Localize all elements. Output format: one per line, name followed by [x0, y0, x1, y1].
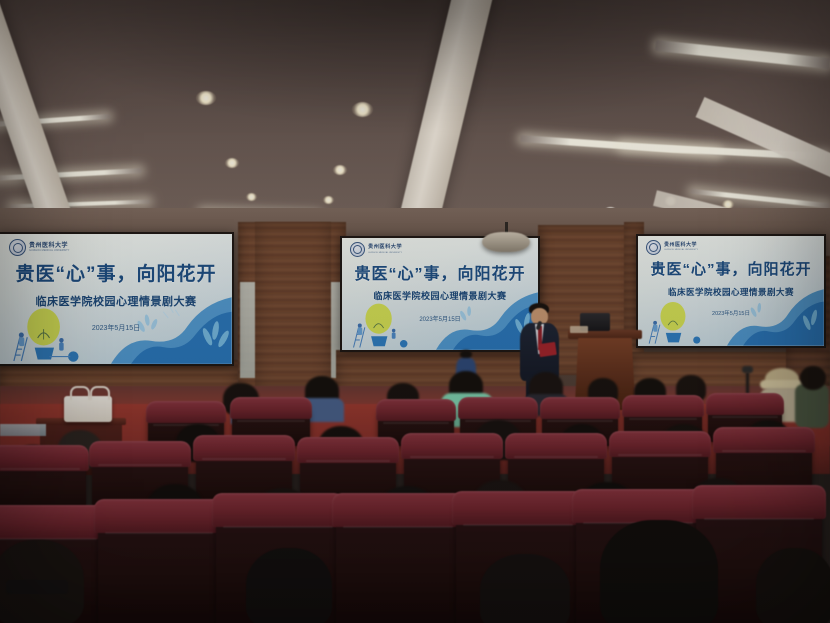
- auditorium-photo: 贵州医科大学 GUIZHOU MEDICAL UNIVERSITY 贵医“心”事…: [0, 0, 830, 623]
- basket-handle: [70, 386, 90, 400]
- center-projection-screen: 贵州医科大学 GUIZHOU MEDICAL UNIVERSITY 贵医“心”事…: [340, 236, 540, 352]
- university-emblem-icon: [9, 239, 26, 256]
- slide-title: 贵医“心”事，向阳花开: [342, 260, 538, 284]
- slide-right: 贵州医科大学 GUIZHOU MEDICAL UNIVERSITY 贵医“心”事…: [638, 236, 824, 346]
- university-name-en: GUIZHOU MEDICAL UNIVERSITY: [368, 252, 402, 254]
- university-logo: 贵州医科大学 GUIZHOU MEDICAL UNIVERSITY: [646, 240, 698, 255]
- auditorium-seat: [336, 500, 460, 623]
- university-name-en: GUIZHOU MEDICAL UNIVERSITY: [664, 249, 698, 251]
- slide-subtitle: 临床医学院校园心理情景剧大赛: [0, 293, 232, 309]
- university-logo: 贵州医科大学 GUIZHOU MEDICAL UNIVERSITY: [350, 242, 402, 257]
- auditorium-seat: [98, 506, 220, 623]
- university-logo: 贵州医科大学 GUIZHOU MEDICAL UNIVERSITY: [9, 239, 69, 256]
- university-name-en: GUIZHOU MEDICAL UNIVERSITY: [29, 250, 69, 253]
- foreground-head: [480, 554, 570, 623]
- foreground-head: [756, 548, 830, 623]
- auditorium-seat: [0, 452, 86, 510]
- slide-subtitle: 临床医学院校园心理情景剧大赛: [342, 289, 538, 302]
- university-emblem-icon: [646, 240, 661, 255]
- university-name: 贵州医科大学: [664, 243, 698, 248]
- slide-title: 贵医“心”事，向阳花开: [638, 258, 824, 279]
- wall-wood-panel: [255, 222, 331, 394]
- slide-date: 2023年5月15日: [342, 314, 538, 323]
- left-projection-screen: 贵州医科大学 GUIZHOU MEDICAL UNIVERSITY 贵医“心”事…: [0, 232, 234, 366]
- microphone-stand: [746, 372, 749, 394]
- audience-head: [800, 366, 826, 390]
- red-folder: [538, 342, 557, 357]
- eyeglasses-icon: [6, 580, 68, 594]
- microphone-icon: [742, 366, 753, 373]
- basket-handle: [90, 386, 110, 400]
- podium-papers: [570, 326, 588, 333]
- lightbulb-illustration: [642, 291, 702, 346]
- slide-title: 贵医“心”事，向阳花开: [0, 259, 232, 286]
- foreground-head: [600, 520, 718, 623]
- table-surface-sheet: [0, 424, 46, 436]
- foreground-head: [246, 548, 332, 623]
- university-name: 贵州医科大学: [368, 245, 402, 250]
- slide-center: 贵州医科大学 GUIZHOU MEDICAL UNIVERSITY 贵医“心”事…: [342, 238, 538, 350]
- slide-subtitle: 临床医学院校园心理情景剧大赛: [638, 286, 824, 298]
- ceiling-projector: [482, 232, 530, 252]
- slide-left: 贵州医科大学 GUIZHOU MEDICAL UNIVERSITY 贵医“心”事…: [0, 234, 232, 364]
- audience-body: [795, 384, 829, 428]
- slide-date: 2023年5月15日: [638, 309, 824, 317]
- university-name: 贵州医科大学: [29, 243, 69, 249]
- right-projection-screen: 贵州医科大学 GUIZHOU MEDICAL UNIVERSITY 贵医“心”事…: [636, 234, 826, 348]
- university-emblem-icon: [350, 242, 365, 257]
- slide-date: 2023年5月15日: [0, 323, 232, 333]
